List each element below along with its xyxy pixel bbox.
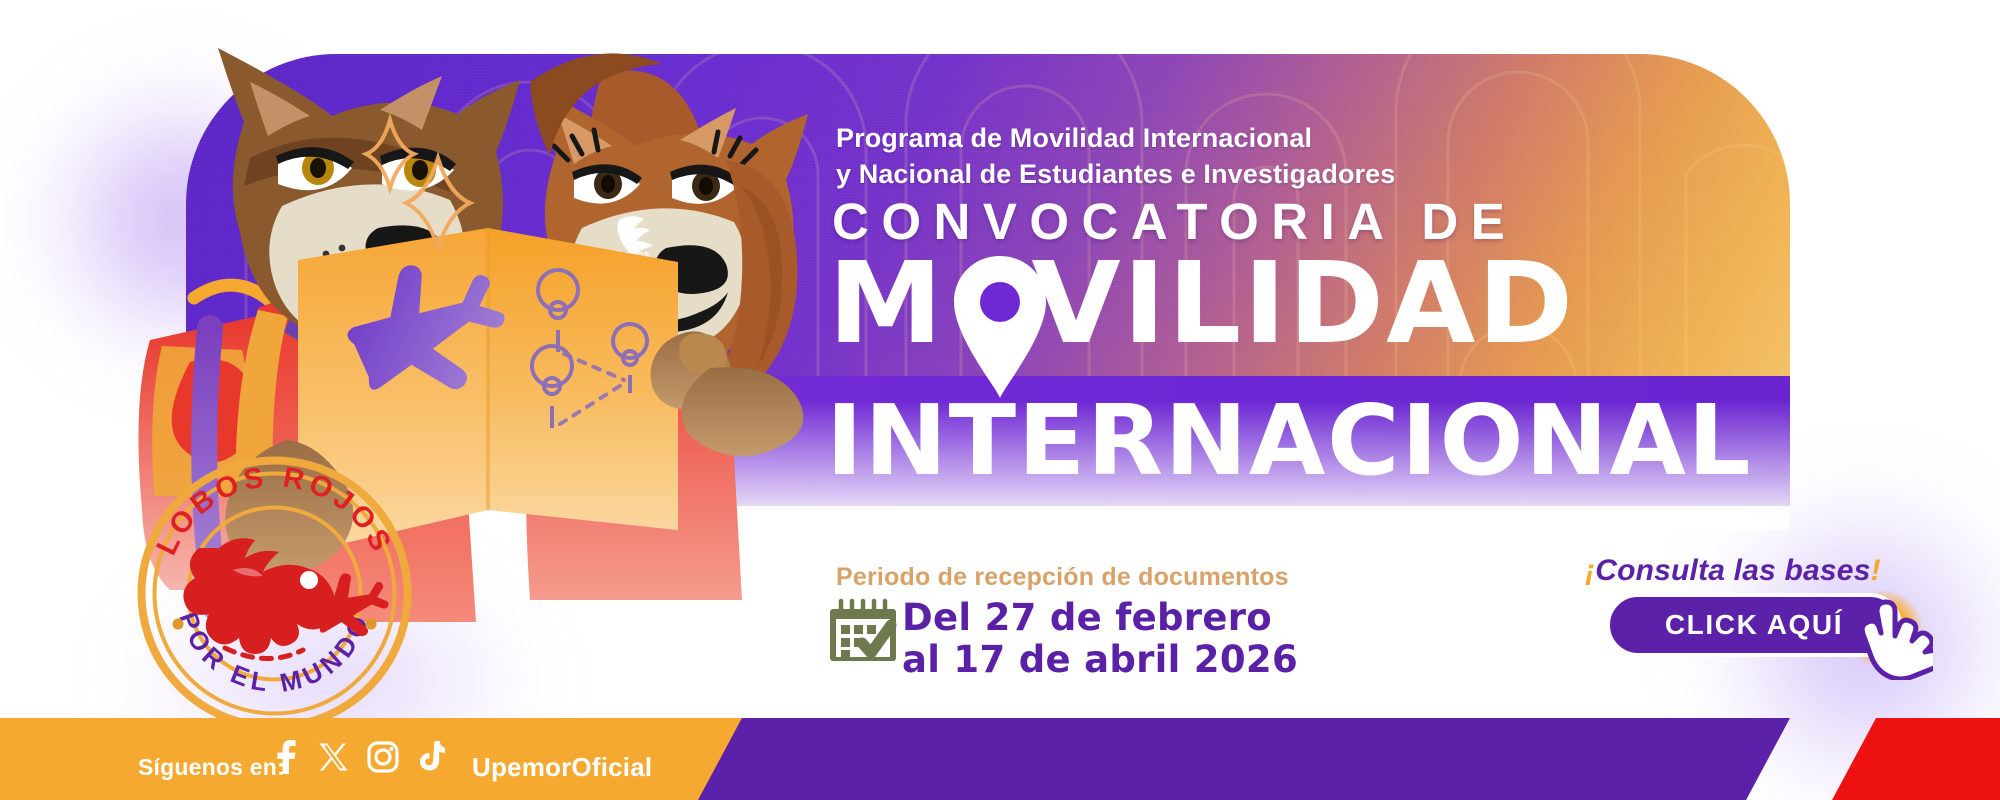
lobos-rojos-seal: LOBOS ROJOS POR EL MUNDO	[133, 452, 416, 735]
banner-root: Lobos Rojos	[0, 0, 2000, 800]
cta-heading: ¡Consulta las bases!	[1585, 554, 1881, 588]
social-handle[interactable]: UpemorOficial	[472, 752, 652, 783]
title-movilidad: MVILIDAD	[828, 248, 1575, 360]
instagram-icon[interactable]	[367, 741, 399, 773]
title-internacional: INTERNACIONAL	[826, 392, 1752, 489]
date-label: Periodo de recepción de documentos	[836, 563, 1289, 592]
calendar-check-icon	[829, 597, 897, 663]
cta-heading-text: Consulta las bases	[1595, 554, 1870, 587]
cta-heading-open: ¡	[1585, 554, 1595, 587]
date-line-2: al 17 de abril 2026	[902, 639, 1298, 681]
map-pin-glyph	[952, 252, 1048, 402]
tiktok-icon[interactable]	[418, 741, 445, 773]
pointing-hand-glyph	[1853, 596, 1933, 680]
x-twitter-icon[interactable]	[318, 742, 348, 772]
kicker-text: Programa de Movilidad Internacional y Na…	[836, 120, 1536, 192]
click-aqui-label: CLICK AQUÍ	[1665, 609, 1843, 641]
date-range: Del 27 de febrero al 17 de abril 2026	[902, 597, 1298, 681]
follow-label: Síguenos en:	[138, 754, 285, 781]
facebook-icon[interactable]	[273, 740, 299, 774]
calendar-check-glyph	[829, 597, 897, 663]
pointing-hand-icon	[1853, 596, 1933, 680]
title-movilidad-before: M	[828, 239, 945, 369]
seal-svg: LOBOS ROJOS POR EL MUNDO	[133, 452, 416, 735]
date-line-1: Del 27 de febrero	[902, 597, 1298, 639]
kicker-line-1: Programa de Movilidad Internacional	[836, 120, 1536, 156]
social-icons	[273, 740, 473, 790]
kicker-line-2: y Nacional de Estudiantes e Investigador…	[836, 156, 1536, 192]
cta-heading-close: !	[1871, 554, 1881, 587]
title-movilidad-after: VILIDAD	[1031, 239, 1575, 369]
map-pin-icon-title	[952, 252, 1048, 402]
